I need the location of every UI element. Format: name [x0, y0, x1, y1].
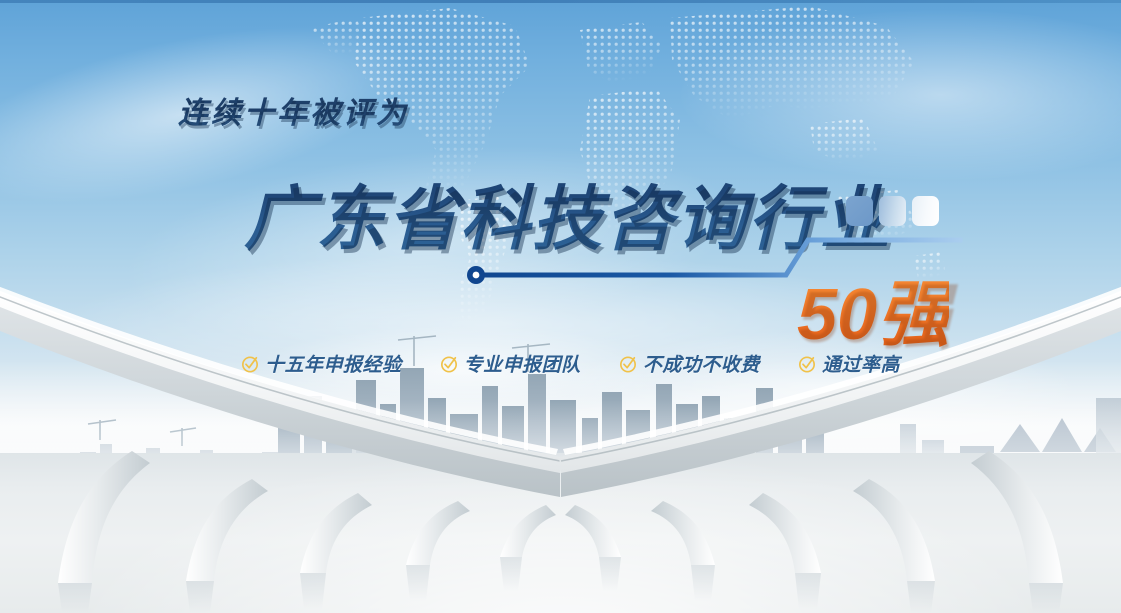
check-circle-icon	[240, 354, 260, 374]
promo-banner: 连续十年被评为 广东省科技咨询行业 50强 十五年申报经验	[0, 0, 1121, 613]
check-circle-icon	[618, 354, 638, 374]
cloud-shape	[681, 10, 1121, 180]
feature-label: 不成功不收费	[643, 350, 760, 377]
square-white	[912, 196, 939, 226]
check-circle-icon	[797, 354, 817, 374]
list-item: 十五年申报经验	[240, 350, 402, 377]
kicker-text: 连续十年被评为	[178, 88, 409, 132]
list-item: 不成功不收费	[618, 350, 760, 377]
decor-squares	[846, 196, 939, 226]
feature-label: 十五年申报经验	[265, 350, 402, 377]
feature-label: 专业申报团队	[464, 350, 581, 377]
square-gradient-blue	[879, 196, 906, 226]
check-circle-icon	[439, 354, 459, 374]
list-item: 专业申报团队	[439, 350, 581, 377]
feature-list: 十五年申报经验 专业申报团队 不成功不收费 通过率高	[240, 350, 900, 377]
feature-label: 通过率高	[822, 350, 900, 377]
square-solid-blue	[846, 196, 873, 226]
rank-badge: 50强	[797, 255, 949, 360]
top-rule	[0, 0, 1121, 3]
reflective-floor	[0, 453, 1121, 613]
list-item: 通过率高	[797, 350, 900, 377]
